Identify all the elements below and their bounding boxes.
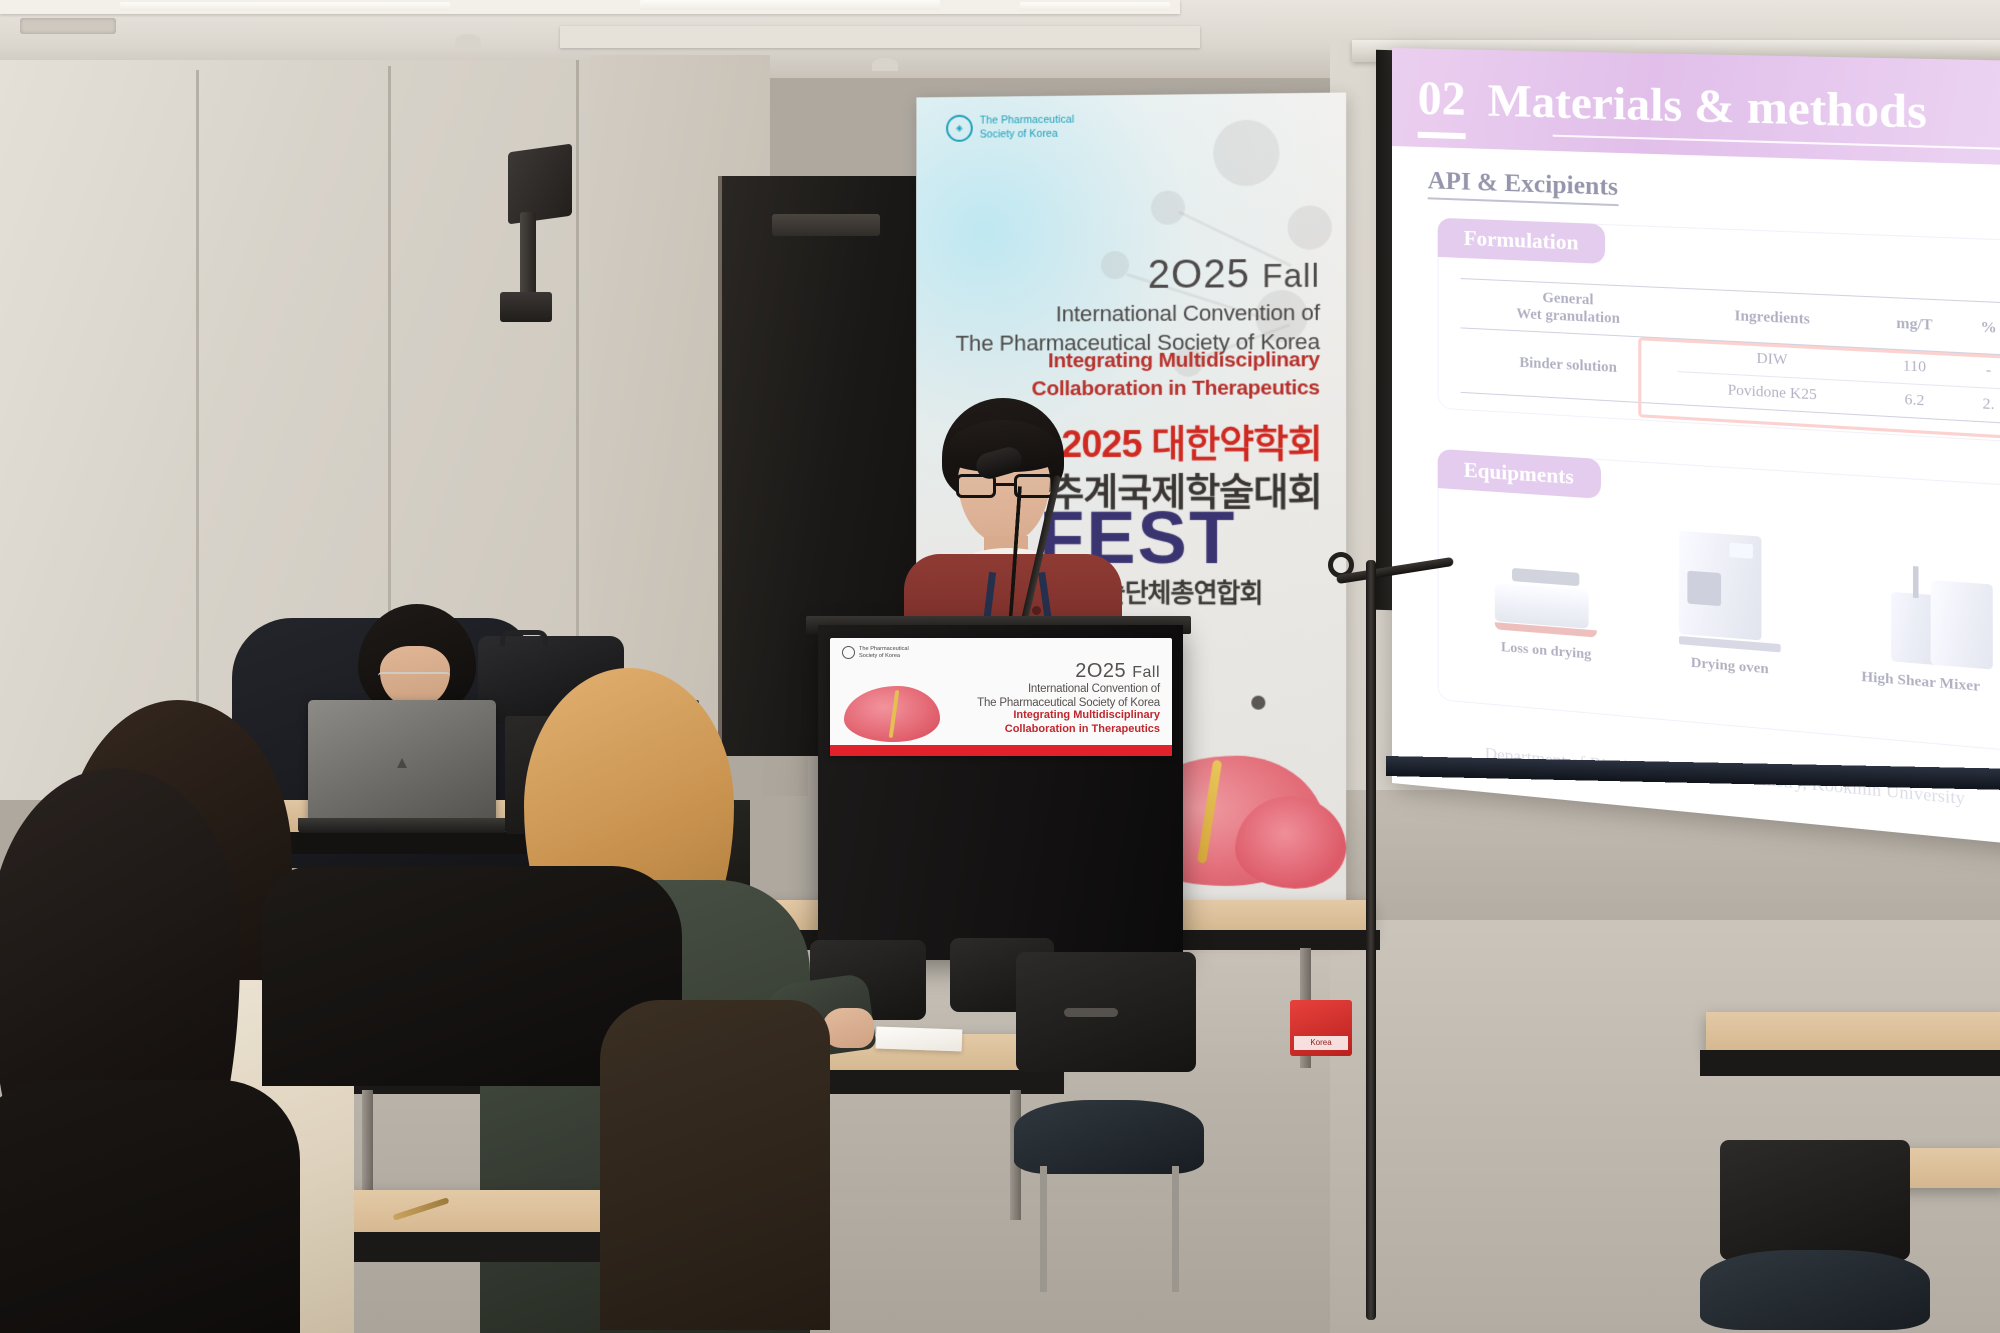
equipments-panel: Equipments Loss on drying — [1438, 449, 2000, 753]
banner-english-block: 2O25 Fall International Convention of Th… — [956, 252, 1320, 358]
molecule-node — [1288, 205, 1332, 250]
equipment-list: Loss on drying Dryin — [1457, 507, 2000, 699]
glasses-bridge — [996, 483, 1014, 486]
cell-percent: - — [1961, 353, 2000, 390]
figure-icon — [1251, 696, 1265, 710]
oven-cabinet — [1679, 531, 1761, 641]
speaker-mount-arm — [520, 212, 536, 300]
presentation-slide: 02 Materials & methods API & Excipients … — [1392, 48, 2000, 849]
banner-year-line: 2O25 Fall — [956, 252, 1320, 299]
equipment-caption: High Shear Mixer — [1856, 669, 1986, 697]
balance-graphic — [1495, 567, 1597, 638]
ceiling-light — [1020, 2, 1170, 11]
psk-seal-icon — [842, 646, 855, 659]
slide-header: 02 Materials & methods — [1392, 48, 2000, 167]
equipment-caption: Loss on drying — [1486, 639, 1606, 665]
society-logo-text: The Pharmaceutical Society of Korea — [980, 114, 1075, 141]
podium-society-logo-text: The Pharmaceutical Society of Korea — [859, 646, 909, 660]
ceiling-dome-light — [455, 34, 481, 47]
handout-paper[interactable] — [876, 1027, 963, 1052]
backpack-handle — [500, 630, 548, 646]
cardigan-button — [1032, 606, 1041, 615]
podium-sign: The Pharmaceutical Society of Korea 2O25… — [830, 638, 1172, 756]
equipment-item: High Shear Mixer — [1856, 535, 1986, 697]
formulation-table: General Wet granulation Ingredients mg/T… — [1461, 278, 2000, 424]
ceiling-beam — [560, 26, 1200, 48]
liver-illustration-lobe — [1235, 796, 1346, 889]
chair-handle — [1064, 1008, 1118, 1017]
equipment-item: Drying oven — [1667, 522, 1792, 681]
cell-mgt: 6.2 — [1868, 382, 1961, 421]
mixer-impeller-shaft — [1913, 566, 1918, 598]
chair-seat[interactable] — [1700, 1250, 1930, 1330]
laptop-logo-icon: ▲ — [389, 754, 415, 772]
podium-sign-accent-bar — [830, 745, 1172, 756]
podium-society-logo: The Pharmaceutical Society of Korea — [842, 646, 909, 660]
banner-year: 2O25 — [1148, 252, 1250, 297]
balance-body — [1495, 583, 1589, 629]
ceiling-light — [120, 2, 450, 11]
ceiling-dome-light — [872, 58, 898, 71]
mixer-control-panel — [1930, 580, 1992, 670]
glasses-icon — [378, 672, 450, 685]
side-desk-right — [1706, 1012, 2000, 1054]
speaker-wall-plate — [500, 292, 552, 322]
podium-society-line1: The Pharmaceutical — [859, 646, 909, 653]
chair-leg — [1172, 1166, 1179, 1292]
glasses-icon — [956, 474, 1054, 498]
banner-subtitle-1: International Convention of — [956, 299, 1320, 328]
banner-theme-1: Integrating Multidisciplinary — [1032, 346, 1320, 376]
slide-section-number: 02 — [1418, 70, 1466, 127]
oven-control-panel — [1730, 543, 1753, 559]
banner-theme-block: Integrating Multidisciplinary Collaborat… — [1032, 346, 1320, 404]
balance-plate — [1512, 568, 1579, 586]
ceiling-speaker-icon — [508, 144, 572, 225]
formulation-panel: Formulation General Wet granulation Ingr… — [1438, 218, 2000, 443]
oven-door — [1687, 571, 1721, 607]
cell-mgt: 110 — [1868, 348, 1961, 387]
tote-bag-label: Korea — [1294, 1036, 1348, 1050]
molecule-node — [1151, 191, 1185, 225]
slide-title: Materials & methods — [1488, 73, 1927, 139]
podium-english-block: 2O25 Fall International Convention of Th… — [977, 660, 1160, 711]
equipment-caption: Drying oven — [1667, 654, 1792, 681]
attendee-jacket — [0, 1080, 300, 1333]
av-laptop[interactable]: ▲ — [308, 700, 496, 822]
conference-room-scene: ◈ The Pharmaceutical Society of Korea 2O… — [0, 0, 2000, 1333]
podium-theme-1: Integrating Multidisciplinary — [1005, 708, 1160, 722]
door-closer-icon — [772, 214, 880, 236]
cell-group-binder-solution: Binder solution — [1461, 328, 1678, 405]
ceiling-vent — [20, 18, 116, 34]
side-desk-right-edge — [1700, 1050, 2000, 1076]
header-mg-per-tablet: mg/T — [1868, 297, 1961, 353]
wall-seam — [196, 70, 199, 790]
banner-season: Fall — [1262, 257, 1320, 295]
moisture-balance-icon — [1486, 509, 1606, 638]
ceiling-light — [640, 0, 940, 10]
chair-seat[interactable] — [1014, 1100, 1204, 1174]
podium-season: Fall — [1132, 664, 1160, 681]
society-logo: ◈ The Pharmaceutical Society of Korea — [946, 114, 1074, 142]
podium-theme-2: Collaboration in Therapeutics — [1005, 722, 1160, 736]
oven-graphic — [1679, 531, 1781, 653]
society-name-line2: Society of Korea — [980, 127, 1075, 141]
drying-oven-icon — [1667, 522, 1792, 654]
oven-base — [1679, 636, 1781, 652]
society-name-line1: The Pharmaceutical — [980, 114, 1075, 128]
podium-year-line: 2O25 Fall — [977, 660, 1160, 683]
equipment-item: Loss on drying — [1486, 509, 1606, 664]
bag-on-chair — [600, 1000, 830, 1330]
projection-screen: 02 Materials & methods API & Excipients … — [1392, 48, 2000, 849]
podium-year: 2O25 — [1075, 660, 1126, 682]
podium-subtitle-1: International Convention of — [977, 683, 1160, 697]
podium-theme-block: Integrating Multidisciplinary Collaborat… — [1005, 708, 1160, 737]
av-laptop-base — [298, 818, 506, 833]
high-shear-mixer-icon — [1856, 535, 1986, 669]
equipments-panel-label: Equipments — [1438, 449, 1601, 499]
slide-title-rule — [1553, 135, 2000, 152]
podium-society-line2: Society of Korea — [859, 653, 909, 660]
molecule-node — [1213, 119, 1279, 186]
mixer-graphic — [1891, 592, 1950, 666]
chair-backrest[interactable] — [1720, 1140, 1910, 1260]
header-percent: % — [1961, 301, 2000, 356]
slide-subsection-heading: API & Excipients — [1428, 167, 1618, 206]
mic-stand-pole — [1366, 560, 1376, 1320]
psk-seal-icon: ◈ — [946, 115, 973, 142]
formulation-panel-label: Formulation — [1438, 218, 1606, 264]
cell-percent: 2. — [1961, 387, 2000, 424]
chair-leg — [1040, 1166, 1047, 1292]
